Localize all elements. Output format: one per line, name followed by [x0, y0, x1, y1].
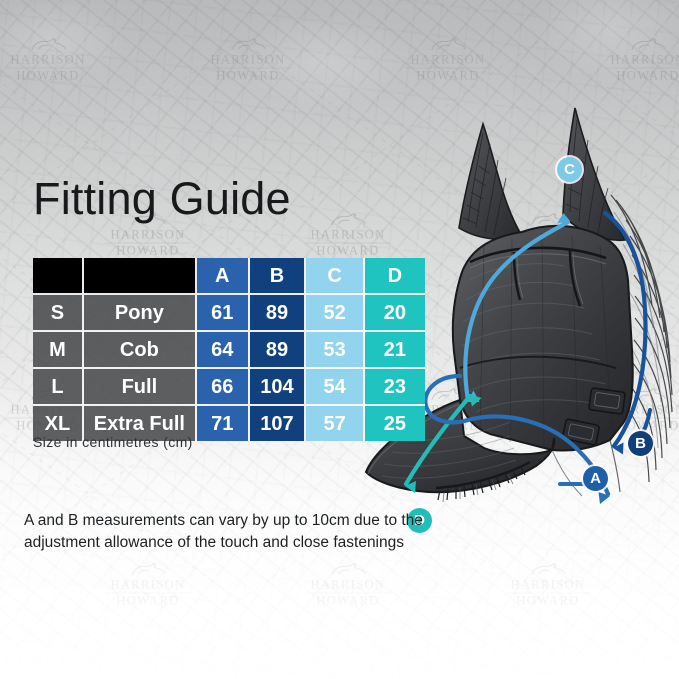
watermark-line2: HOWARD: [83, 245, 213, 258]
horse-logo-icon: [0, 38, 113, 53]
horse-logo-icon: [383, 38, 513, 53]
cell-size-code: M: [33, 332, 84, 369]
cell-measurement-d: 20: [365, 295, 425, 332]
cell-measurement-a: 61: [197, 295, 250, 332]
watermark-rule: [5, 68, 91, 69]
measurement-marker-a: A: [583, 466, 608, 491]
watermark-line1: HARRISON: [0, 54, 113, 67]
watermark-line2: HOWARD: [0, 70, 113, 83]
fitting-guide-infographic: HARRISON HOWARD HARRISON HOWARD HARRISON…: [0, 0, 679, 679]
watermark-line1: HARRISON: [583, 54, 679, 67]
header-size-code: [33, 258, 84, 295]
table-row: L Full 66 104 54 23: [33, 369, 425, 406]
watermark-rule: [605, 68, 679, 69]
cell-measurement-d: 25: [365, 406, 425, 441]
measurement-marker-c: C: [557, 157, 582, 182]
cell-size-code: S: [33, 295, 84, 332]
table-row: S Pony 61 89 52 20: [33, 295, 425, 332]
measurement-note: A and B measurements can vary by up to 1…: [24, 510, 424, 554]
cell-measurement-c: 53: [306, 332, 364, 369]
cell-measurement-a: 64: [197, 332, 250, 369]
watermark-line1: HARRISON: [383, 54, 513, 67]
watermark-line2: HOWARD: [0, 245, 13, 258]
watermark: HARRISON HOWARD: [383, 38, 513, 83]
watermark-rule: [105, 243, 191, 244]
watermark-line1: HARRISON: [183, 54, 313, 67]
page-title: Fitting Guide: [33, 176, 291, 221]
cell-measurement-c: 57: [306, 406, 364, 441]
cell-measurement-a: 66: [197, 369, 250, 406]
cell-measurement-b: 107: [250, 406, 307, 441]
header-measurement-c: C: [306, 258, 364, 295]
watermark: HARRISON HOWARD: [0, 213, 13, 258]
watermark-line2: HOWARD: [583, 70, 679, 83]
cell-size-code: L: [33, 369, 84, 406]
watermark-line1: HARRISON: [83, 229, 213, 242]
cell-size-name: Pony: [84, 295, 197, 332]
watermark: HARRISON HOWARD: [183, 38, 313, 83]
cell-size-name: Full: [84, 369, 197, 406]
cell-measurement-d: 21: [365, 332, 425, 369]
units-caption: Size in centimetres (cm): [33, 434, 193, 450]
cell-measurement-d: 23: [365, 369, 425, 406]
table-header-row: A B C D: [33, 258, 425, 295]
horse-logo-icon: [583, 38, 679, 53]
header-measurement-b: B: [250, 258, 307, 295]
horse-logo-icon: [0, 213, 13, 228]
cell-measurement-c: 52: [306, 295, 364, 332]
sizing-table: A B C D S Pony 61 89 52 20 M Cob 64 89 5…: [33, 258, 425, 441]
cell-measurement-a: 71: [197, 406, 250, 441]
watermark-line2: HOWARD: [383, 70, 513, 83]
horse-logo-icon: [183, 38, 313, 53]
watermark-line2: HOWARD: [183, 70, 313, 83]
cell-measurement-b: 104: [250, 369, 307, 406]
watermark: HARRISON HOWARD: [583, 38, 679, 83]
watermark: HARRISON HOWARD: [0, 38, 113, 83]
fastening-tab-upper: [589, 388, 626, 415]
watermark-rule: [205, 68, 291, 69]
header-size-name: [84, 258, 197, 295]
cell-measurement-b: 89: [250, 295, 307, 332]
header-measurement-d: D: [365, 258, 425, 295]
watermark-line1: HARRISON: [0, 229, 13, 242]
table-row: M Cob 64 89 53 21: [33, 332, 425, 369]
cell-measurement-c: 54: [306, 369, 364, 406]
cell-measurement-b: 89: [250, 332, 307, 369]
watermark-rule: [405, 68, 491, 69]
measurement-marker-b: B: [628, 431, 653, 456]
cell-size-name: Cob: [84, 332, 197, 369]
header-measurement-a: A: [197, 258, 250, 295]
